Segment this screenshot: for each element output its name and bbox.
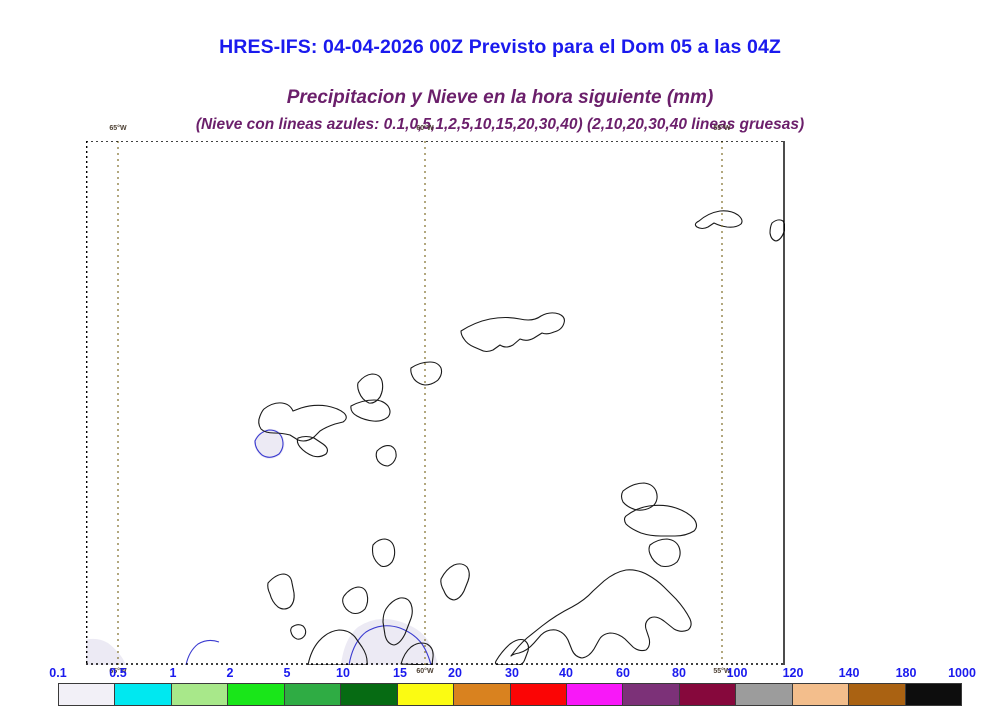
colorbar-tick-label: 0.5: [109, 666, 126, 680]
colorbar-tick-label: 1: [170, 666, 177, 680]
colorbar-segment[interactable]: [341, 684, 397, 705]
colorbar-segment[interactable]: [623, 684, 679, 705]
colorbar-segment[interactable]: [849, 684, 905, 705]
chart-subtitle: Precipitacion y Nieve en la hora siguien…: [0, 87, 1000, 109]
colorbar[interactable]: [58, 683, 962, 706]
colorbar-tick-label: 40: [559, 666, 573, 680]
colorbar-segment[interactable]: [567, 684, 623, 705]
colorbar-segment[interactable]: [285, 684, 341, 705]
colorbar-tick-label: 80: [672, 666, 686, 680]
colorbar-segment[interactable]: [59, 684, 115, 705]
colorbar-segment[interactable]: [511, 684, 567, 705]
meridian-label-55w: 55°W: [713, 125, 730, 132]
colorbar-tick-label: 20: [448, 666, 462, 680]
colorbar-tick-label: 2: [227, 666, 234, 680]
colorbar-segment[interactable]: [172, 684, 228, 705]
colorbar-segment[interactable]: [228, 684, 284, 705]
colorbar-tick-label: 140: [839, 666, 860, 680]
map-panel[interactable]: 65°W 60°W 55°W 65°W 60°W 55°W: [86, 141, 785, 665]
colorbar-segment[interactable]: [680, 684, 736, 705]
colorbar-tick-label: 180: [896, 666, 917, 680]
colorbar-segment[interactable]: [736, 684, 792, 705]
page-title: HRES-IFS: 04-04-2026 00Z Previsto para e…: [0, 36, 1000, 59]
colorbar-tick-label: 100: [727, 666, 748, 680]
colorbar-tick-label: 1000: [948, 666, 976, 680]
weather-map: [86, 141, 785, 665]
colorbar-tick-label: 15: [393, 666, 407, 680]
chart-subtitle-note: (Nieve con lineas azules: 0.1,0,5,1,2,5,…: [0, 116, 1000, 134]
colorbar-segment[interactable]: [906, 684, 961, 705]
colorbar-segment[interactable]: [398, 684, 454, 705]
colorbar-segment[interactable]: [454, 684, 510, 705]
meridian-label-65w: 65°W: [109, 125, 126, 132]
colorbar-segment[interactable]: [793, 684, 849, 705]
colorbar-tick-label: 120: [783, 666, 804, 680]
colorbar-tick-label: 30: [505, 666, 519, 680]
meridian-label-bottom-60w: 60°W: [416, 668, 433, 675]
colorbar-segment[interactable]: [115, 684, 171, 705]
colorbar-tick-label: 5: [284, 666, 291, 680]
colorbar-tick-label: 10: [336, 666, 350, 680]
colorbar-tick-label: 0.1: [49, 666, 66, 680]
meridian-label-60w: 60°W: [416, 125, 433, 132]
colorbar-tick-label: 60: [616, 666, 630, 680]
